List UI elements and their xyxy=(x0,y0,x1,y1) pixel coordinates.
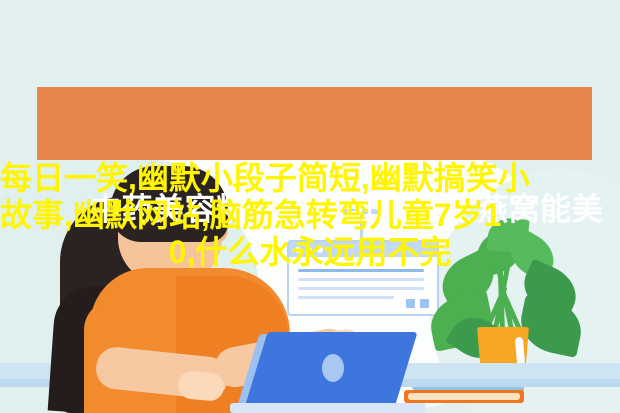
window-text-line xyxy=(298,278,424,281)
laptop-logo-icon xyxy=(322,354,344,382)
overlay-line: 故事,幽默网站,脑筋急转弯儿童7岁1 xyxy=(0,197,620,234)
window-text-line xyxy=(298,296,394,299)
overlay-line: 0,什么水永远用不完 xyxy=(0,234,620,271)
window-square-icon xyxy=(406,299,415,308)
window-text-line xyxy=(298,287,424,290)
book-pages xyxy=(408,393,520,400)
overlay-line: 每日一笑,幽默小段子简短,幽默搞笑小 xyxy=(0,160,620,197)
laptop-base xyxy=(230,403,426,413)
screenshot-canvas: 中药美容粉有什么功效呢 吃燕窝能美 每日一笑,幽默小段子简短,幽默搞笑小 故事,… xyxy=(0,0,620,413)
person-hand-left xyxy=(177,370,225,402)
title-banner: 中药美容粉有什么功效呢 吃燕窝能美 xyxy=(37,87,592,160)
keyword-overlay-text: 每日一笑,幽默小段子简短,幽默搞笑小 故事,幽默网站,脑筋急转弯儿童7岁1 0,… xyxy=(0,160,620,271)
